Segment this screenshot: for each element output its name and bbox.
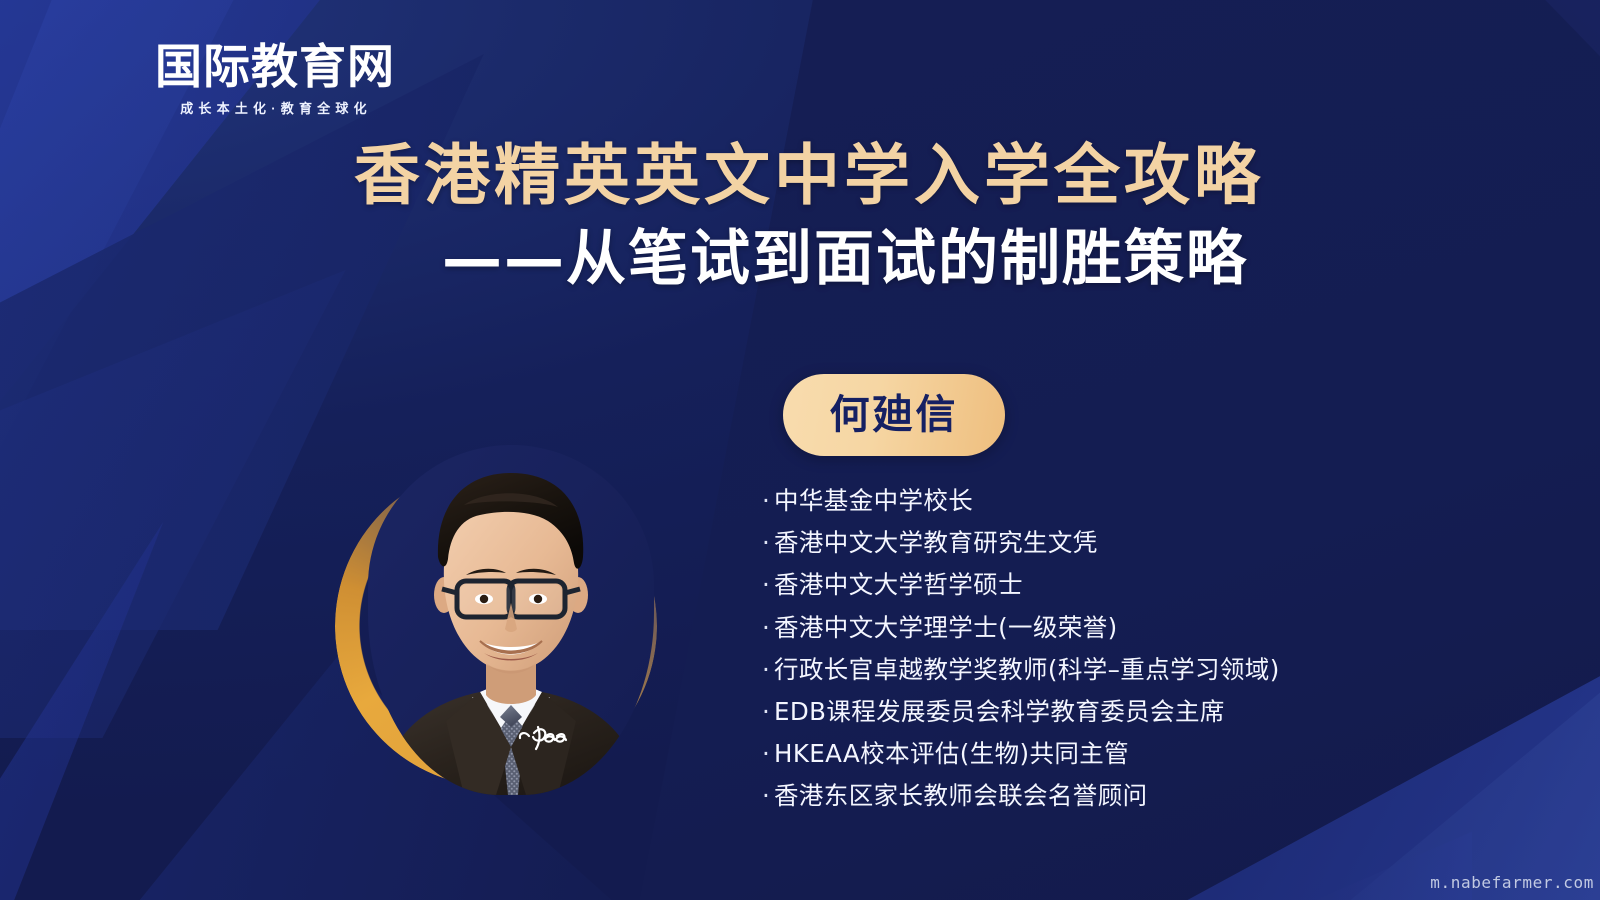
bullet-dot: · [762,607,774,649]
list-item: ·香港东区家长教师会联会名誉顾问 [762,775,1462,817]
brand-logo: 国际教育网 成长本土化·教育全球化 [155,44,395,117]
bullet-dot: · [762,775,774,817]
brand-logo-name: 国际教育网 [155,44,395,91]
bullet-dot: · [762,733,774,775]
credential-text: EDB课程发展委员会科学教育委员会主席 [774,697,1225,726]
speaker-name: 何廸信 [830,395,959,435]
bullet-dot: · [762,649,774,691]
credential-text: 香港中文大学理学士(一级荣誉) [774,613,1118,642]
webinar-poster: 国际教育网 成长本土化·教育全球化 香港精英英文中学入学全攻略 ——从笔试到面试… [0,0,1600,900]
list-item: ·香港中文大学理学士(一级荣誉) [762,607,1462,649]
credential-text: HKEAA校本评估(生物)共同主管 [774,739,1129,768]
list-item: ·香港中文大学教育研究生文凭 [762,522,1462,564]
watermark: m.nabefarmer.com [1430,873,1594,892]
speaker-credentials-list: ·中华基金中学校长 ·香港中文大学教育研究生文凭 ·香港中文大学哲学硕士 ·香港… [762,480,1462,818]
credential-text: 香港中文大学教育研究生文凭 [774,528,1098,557]
list-item: ·HKEAA校本评估(生物)共同主管 [762,733,1462,775]
bullet-dot: · [762,564,774,606]
page-title: 香港精英英文中学入学全攻略 [0,142,1600,210]
credential-text: 行政长官卓越教学奖教师(科学–重点学习领域) [774,655,1280,684]
bullet-dot: · [762,691,774,733]
credential-text: 香港中文大学哲学硕士 [774,570,1023,599]
bullet-dot: · [762,480,774,522]
page-subtitle: ——从笔试到面试的制胜策略 [0,228,1600,291]
credential-text: 香港东区家长教师会联会名誉顾问 [774,781,1148,810]
speaker-name-badge: 何廸信 [783,374,1005,456]
list-item: ·行政长官卓越教学奖教师(科学–重点学习领域) [762,649,1462,691]
background-facet-10 [1408,0,1600,162]
title-block: 香港精英英文中学入学全攻略 ——从笔试到面试的制胜策略 [0,142,1600,291]
list-item: ·EDB课程发展委员会科学教育委员会主席 [762,691,1462,733]
avatar [368,445,654,795]
speaker-portrait-group [330,445,665,795]
list-item: ·中华基金中学校长 [762,480,1462,522]
brand-logo-tagline: 成长本土化·教育全球化 [155,98,395,117]
credential-text: 中华基金中学校长 [774,486,973,515]
bullet-dot: · [762,522,774,564]
list-item: ·香港中文大学哲学硕士 [762,564,1462,606]
